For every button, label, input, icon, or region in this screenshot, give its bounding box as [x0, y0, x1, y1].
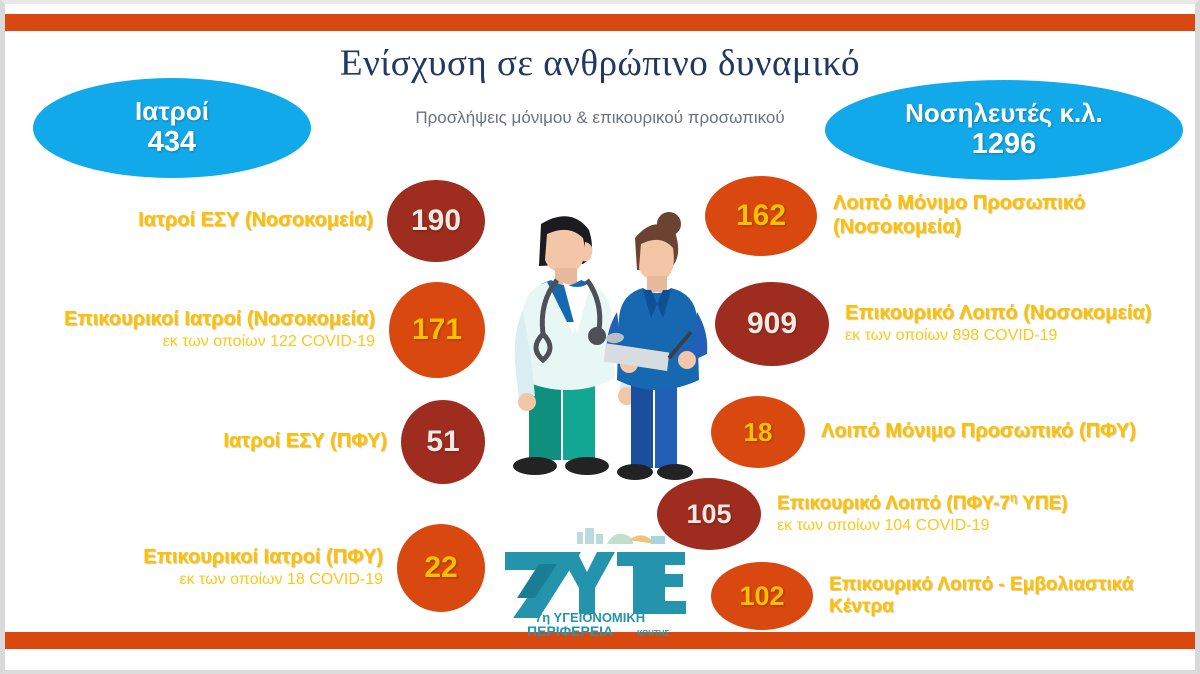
stat-row-aux-other-hospitals: 909 Επικουρικό Λοιπό (Νοσοκομεία) εκ των… — [715, 282, 1185, 366]
stat-label-text: Ιατροί ΕΣΥ (Νοσοκομεία) — [138, 209, 373, 231]
total-doctors-label: Ιατροί — [135, 97, 209, 126]
stat-row-other-permanent-hospitals: 162 Λοιπό Μόνιμο Προσωπικό (Νοσοκομεία) — [705, 176, 1185, 256]
logo-line3: ΚΡΗΤΗΣ — [637, 629, 670, 638]
stat-row-aux-doctors-hospitals: Επικουρικοί Ιατροί (Νοσοκομεία) εκ των ο… — [60, 282, 485, 378]
stat-label-text: Επικουρικοί Ιατροί (Νοσοκομεία) — [64, 308, 375, 330]
total-nurses-label: Νοσηλευτές κ.λ. — [905, 99, 1103, 128]
stat-sublabel-text: εκ των οποίων 104 COVID-19 — [777, 517, 1067, 536]
stat-row-aux-other-pfy: 105 Επικουρικό Λοιπό (ΠΦΥ-7η ΥΠΕ) εκ των… — [657, 478, 1185, 550]
stat-label-text: Λοιπό Μόνιμο Προσωπικό (Νοσοκομεία) — [833, 192, 1085, 238]
total-doctors-value: 434 — [148, 126, 196, 158]
stat-row-doctors-esy-hospitals: Ιατροί ΕΣΥ (Νοσοκομεία) 190 — [65, 180, 485, 262]
stat-label: Ιατροί ΕΣΥ (Νοσοκομεία) — [138, 209, 373, 233]
logo-line2: ΠΕΡΙΦΕΡΕΙΑ — [527, 623, 613, 638]
stat-label: Επικουρικό Λοιπό (Νοσοκομεία) εκ των οπο… — [845, 302, 1151, 346]
stat-label-text: Επικουρικοί Ιατροί (ΠΦΥ) — [143, 546, 383, 568]
stat-value-bubble: 18 — [711, 396, 805, 468]
medical-staff-illustration — [467, 164, 717, 544]
total-nurses-badge: Νοσηλευτές κ.λ. 1296 — [825, 80, 1183, 180]
stat-sublabel-text: εκ των οποίων 122 COVID-19 — [64, 333, 375, 352]
stat-label-text: Επικουρικό Λοιπό (ΠΦΥ-7η ΥΠΕ) — [777, 493, 1067, 514]
stat-label-text: Επικουρικό Λοιπό (Νοσοκομεία) — [845, 302, 1151, 324]
stat-label: Ιατροί ΕΣΥ (ΠΦΥ) — [223, 430, 387, 454]
total-doctors-badge: Ιατροί 434 — [33, 78, 311, 178]
total-nurses-value: 1296 — [972, 128, 1037, 160]
nurse-figure — [602, 212, 707, 480]
stat-value-bubble: 102 — [711, 562, 813, 630]
stat-label-text: Ιατροί ΕΣΥ (ΠΦΥ) — [223, 430, 387, 452]
doctor-and-nurse-icon — [467, 164, 717, 544]
stat-row-doctors-esy-pfy: Ιατροί ΕΣΥ (ΠΦΥ) 51 — [65, 400, 485, 484]
stat-row-aux-other-vaccination-centers: 102 Επικουρικό Λοιπό - Εμβολιαστικά Κέντ… — [711, 562, 1185, 630]
ype-logo-icon: 7η ΥΓΕΙΟΝΟΜΙΚΗ ΠΕΡΙΦΕΡΕΙΑ ΚΡΗΤΗΣ — [499, 526, 699, 638]
stat-label-text: Λοιπό Μόνιμο Προσωπικό (ΠΦΥ) — [821, 420, 1136, 442]
stat-value-bubble: 162 — [705, 176, 817, 256]
infographic-slide: Ενίσχυση σε ανθρώπινο δυναμικό Προσλήψει… — [0, 0, 1200, 674]
stat-label: Επικουρικοί Ιατροί (ΠΦΥ) εκ των οποίων 1… — [143, 546, 383, 590]
stat-value-bubble: 909 — [715, 282, 829, 366]
top-accent-bar — [5, 14, 1195, 31]
stat-label-text: Επικουρικό Λοιπό - Εμβολιαστικά Κέντρα — [829, 574, 1133, 617]
stat-label: Επικουρικό Λοιπό - Εμβολιαστικά Κέντρα — [829, 574, 1185, 619]
ype-logo: 7η ΥΓΕΙΟΝΟΜΙΚΗ ΠΕΡΙΦΕΡΕΙΑ ΚΡΗΤΗΣ — [499, 526, 699, 638]
stat-row-aux-doctors-pfy: Επικουρικοί Ιατροί (ΠΦΥ) εκ των οποίων 1… — [55, 524, 485, 612]
stat-label: Επικουρικοί Ιατροί (Νοσοκομεία) εκ των ο… — [64, 308, 375, 352]
stat-row-other-permanent-pfy: 18 Λοιπό Μόνιμο Προσωπικό (ΠΦΥ) — [711, 396, 1185, 468]
stat-sublabel-text: εκ των οποίων 18 COVID-19 — [143, 571, 383, 590]
stat-label: Λοιπό Μόνιμο Προσωπικό (ΠΦΥ) — [821, 420, 1136, 444]
stat-label: Λοιπό Μόνιμο Προσωπικό (Νοσοκομεία) — [833, 192, 1185, 239]
stat-label: Επικουρικό Λοιπό (ΠΦΥ-7η ΥΠΕ) εκ των οπο… — [777, 492, 1067, 537]
stat-sublabel-text: εκ των οποίων 898 COVID-19 — [845, 327, 1151, 346]
